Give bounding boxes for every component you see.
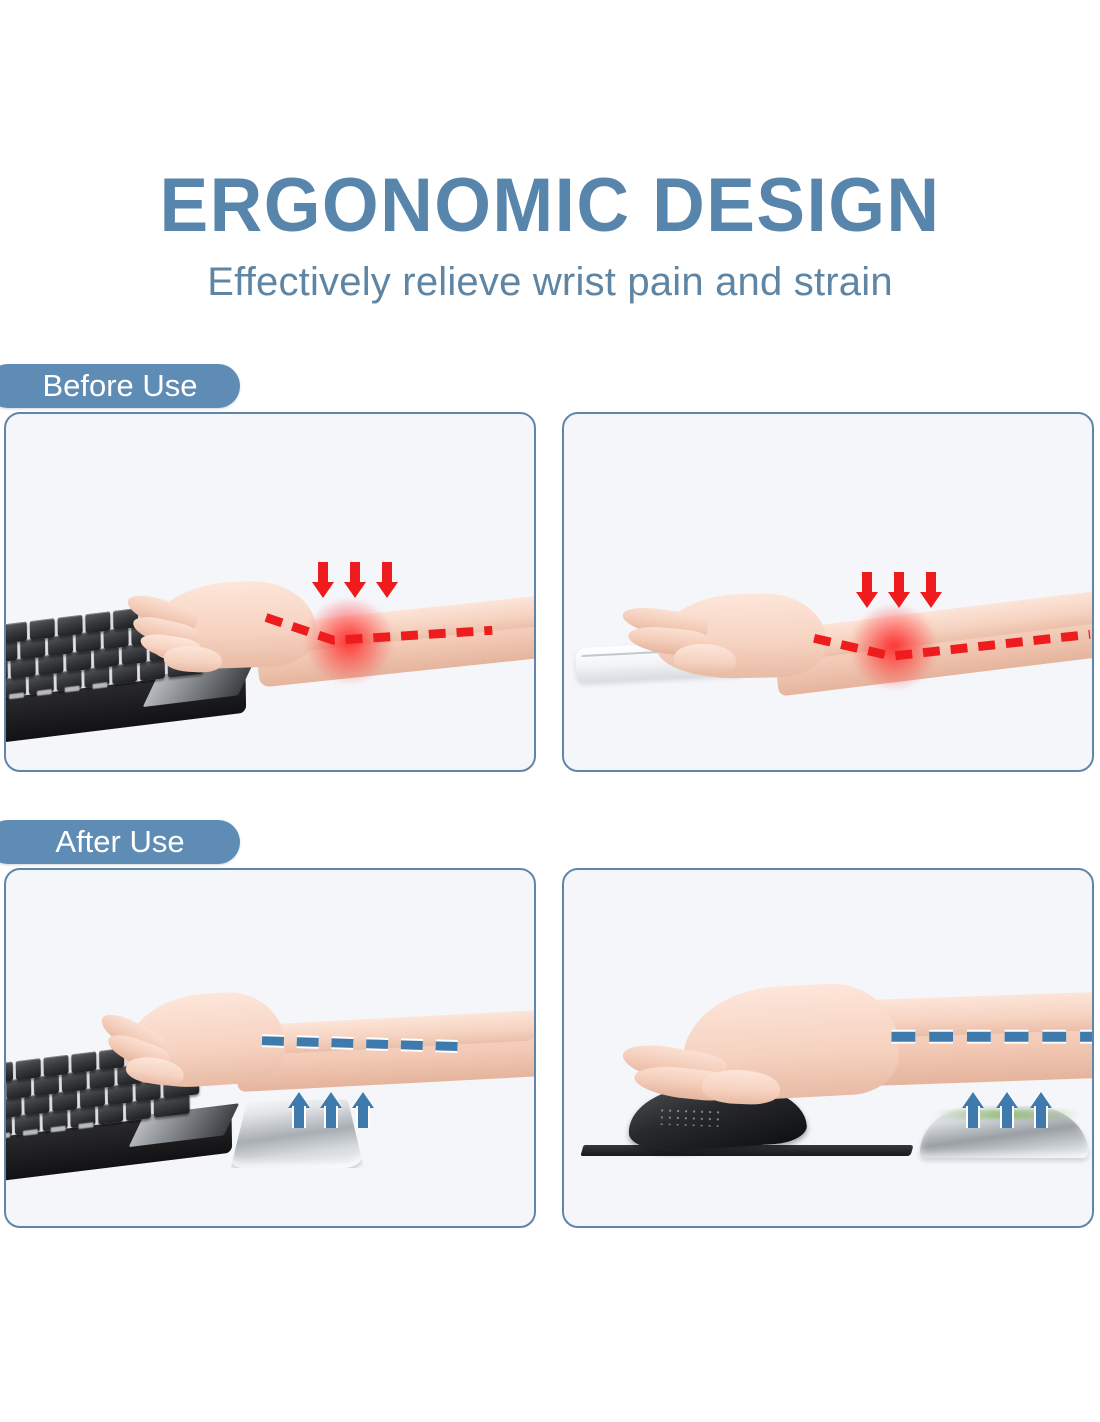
scene-before-keyboard (6, 414, 534, 770)
section-badge-after-use: After Use (0, 820, 240, 864)
page-title: ERGONOMIC DESIGN (22, 168, 1078, 244)
mousepad-icon (580, 1145, 913, 1156)
wrist-angle-guide-line (564, 414, 1092, 771)
panel-after-mouse (562, 868, 1094, 1228)
panel-before-mouse (562, 412, 1094, 772)
scene-after-mouse (564, 870, 1092, 1226)
page-subtitle: Effectively relieve wrist pain and strai… (0, 262, 1100, 302)
panel-after-keyboard (4, 868, 536, 1228)
panel-before-keyboard (4, 412, 536, 772)
header: ERGONOMIC DESIGN Effectively relieve wri… (0, 0, 1100, 302)
scene-before-mouse (564, 414, 1092, 770)
section-badge-before-use: Before Use (0, 364, 240, 408)
mouse-texture (658, 1107, 723, 1127)
scene-after-keyboard (6, 870, 534, 1226)
